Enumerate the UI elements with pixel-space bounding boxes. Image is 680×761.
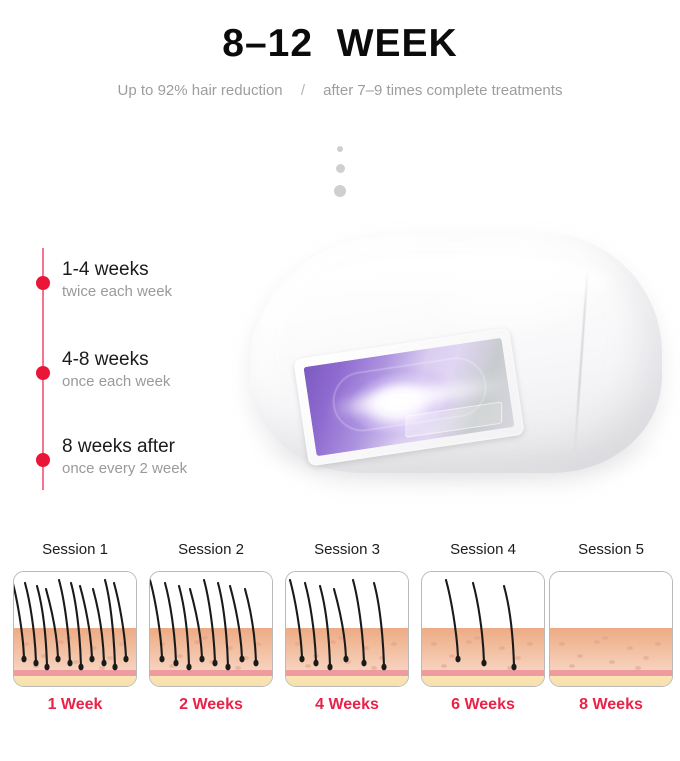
flash-window-bezel bbox=[293, 327, 525, 466]
dot-large-icon bbox=[334, 185, 346, 197]
timeline-item-title: 8 weeks after bbox=[62, 435, 175, 459]
timeline-item-subtitle: twice each week bbox=[62, 282, 172, 302]
subtitle-separator: / bbox=[287, 81, 319, 101]
session-label: Session 5 bbox=[549, 540, 673, 560]
week-label: 6 Weeks bbox=[421, 694, 545, 716]
page-title: 8–12 WEEK bbox=[0, 20, 680, 68]
session-label: Session 4 bbox=[421, 540, 545, 560]
skin-cross-section bbox=[421, 571, 545, 687]
skin-cross-section bbox=[285, 571, 409, 687]
ipl-flash-window bbox=[303, 338, 514, 457]
skin-cross-section bbox=[13, 571, 137, 687]
session-label: Session 3 bbox=[285, 540, 409, 560]
timeline-item-title: 4-8 weeks bbox=[62, 348, 149, 372]
dot-small-icon bbox=[337, 146, 343, 152]
skin-layers-illustration bbox=[286, 572, 408, 686]
skin-layers-illustration bbox=[550, 572, 672, 686]
subtitle-right: after 7–9 times complete treatments bbox=[323, 81, 562, 101]
device-top-highlight bbox=[310, 255, 610, 309]
skin-cross-section bbox=[549, 571, 673, 687]
skin-layers-illustration bbox=[150, 572, 272, 686]
subtitle: Up to 92% hair reduction / after 7–9 tim… bbox=[0, 81, 680, 101]
week-label: 2 Weeks bbox=[149, 694, 273, 716]
ipl-hair-removal-handset bbox=[240, 225, 680, 515]
week-label: 8 Weeks bbox=[549, 694, 673, 716]
skin-layers-illustration bbox=[422, 572, 544, 686]
session-progress-row: Session 11 WeekSession 22 WeeksSession 3… bbox=[0, 540, 680, 740]
subtitle-left: Up to 92% hair reduction bbox=[118, 81, 283, 101]
timeline-dot-icon bbox=[36, 453, 50, 467]
dot-medium-icon bbox=[336, 164, 345, 173]
session-label: Session 2 bbox=[149, 540, 273, 560]
timeline-item-subtitle: once every 2 week bbox=[62, 459, 187, 479]
timeline-dot-icon bbox=[36, 276, 50, 290]
timeline-item-subtitle: once each week bbox=[62, 372, 170, 392]
dot-separator bbox=[0, 140, 680, 208]
device-body bbox=[250, 233, 662, 473]
week-label: 1 Week bbox=[13, 694, 137, 716]
timeline-dot-icon bbox=[36, 366, 50, 380]
week-label: 4 Weeks bbox=[285, 694, 409, 716]
treatment-schedule-timeline: 1-4 weeks twice each week 4-8 weeks once… bbox=[0, 240, 260, 500]
session-label: Session 1 bbox=[13, 540, 137, 560]
skin-layers-illustration bbox=[14, 572, 136, 686]
header: 8–12 WEEK Up to 92% hair reduction / aft… bbox=[0, 0, 680, 120]
skin-cross-section bbox=[149, 571, 273, 687]
timeline-item-title: 1-4 weeks bbox=[62, 258, 149, 282]
